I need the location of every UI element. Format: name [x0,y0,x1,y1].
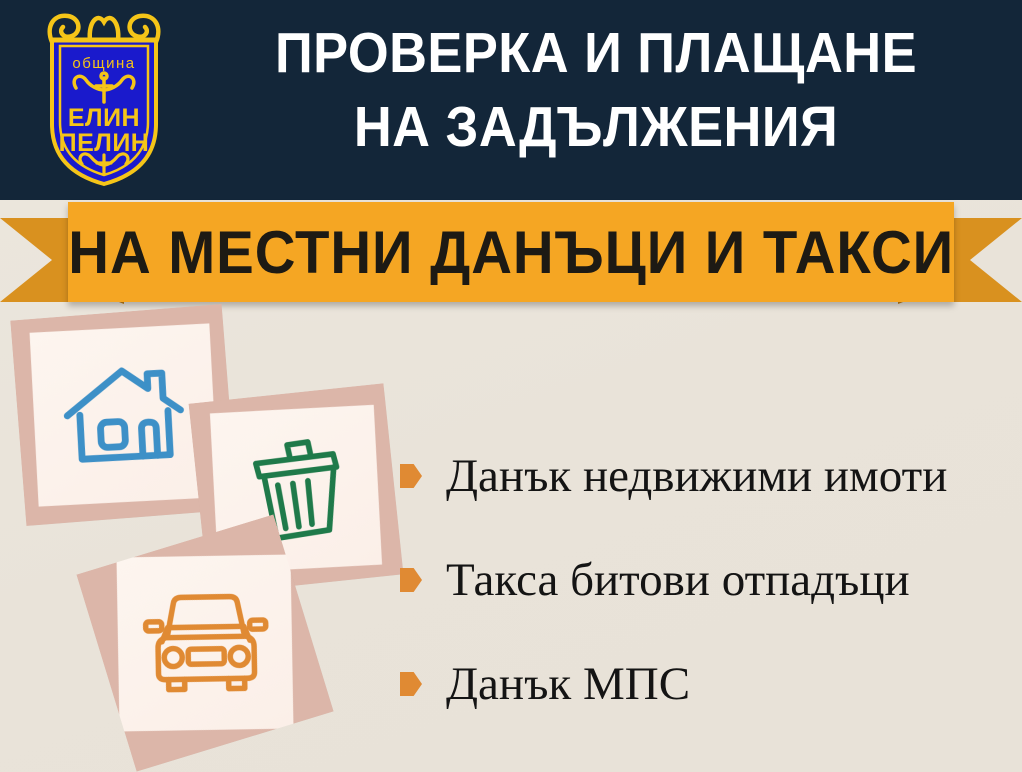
list-item[interactable]: Данък МПС [400,632,1012,736]
municipality-logo: община ЕЛИН ПЕЛИН [30,6,178,188]
arrow-bullet-icon [400,464,422,488]
logo-name-line1: ЕЛИН [68,104,140,132]
arrow-bullet-icon [400,568,422,592]
list-item-label: Данък недвижими имоти [446,453,947,500]
logo-top-label: община [72,55,135,72]
page-title-line-2: НА ЗАДЪЛЖЕНИЯ [219,90,973,164]
page-title: ПРОВЕРКА И ПЛАЩАНЕ НА ЗАДЪЛЖЕНИЯ [219,16,973,164]
list-item[interactable]: Данък недвижими имоти [400,424,1012,528]
subtitle-ribbon: НА МЕСТНИ ДАНЪЦИ И ТАКСИ [0,198,1022,308]
list-item-label: Данък МПС [446,661,690,708]
list-item-label: Такса битови отпадъци [446,557,910,604]
stamp-paper-vehicle [116,554,293,731]
ribbon-label: НА МЕСТНИ ДАНЪЦИ И ТАКСИ [68,218,954,287]
tax-type-list: Данък недвижими имоти Такса битови отпад… [400,424,1012,736]
list-item[interactable]: Такса битови отпадъци [400,528,1012,632]
logo-name-line2: ПЕЛИН [59,129,150,157]
car-icon [139,588,271,698]
header-band: община ЕЛИН ПЕЛИН [0,0,1022,200]
ribbon-banner: НА МЕСТНИ ДАНЪЦИ И ТАКСИ [68,202,954,302]
arrow-bullet-icon [400,672,422,696]
house-icon [58,357,190,473]
page-title-line-1: ПРОВЕРКА И ПЛАЩАНЕ [275,21,917,85]
poster-canvas: община ЕЛИН ПЕЛИН [0,0,1022,772]
